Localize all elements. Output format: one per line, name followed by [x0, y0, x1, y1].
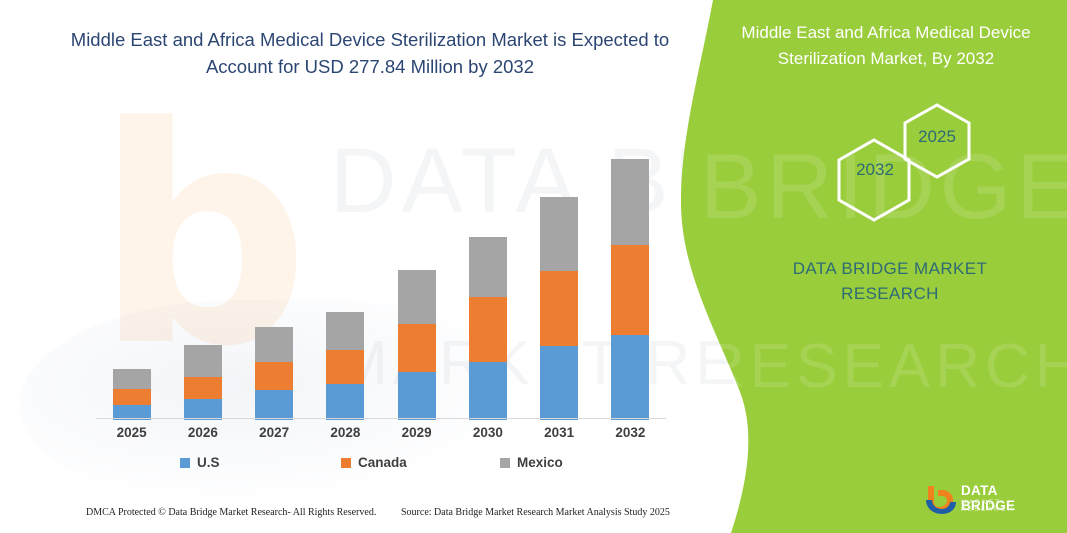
bar-segment-us — [326, 384, 364, 420]
bar-segment-mexico — [611, 159, 649, 245]
bar-segment-mexico — [255, 327, 293, 362]
x-axis-label: 2025 — [102, 425, 162, 440]
bar-segment-us — [255, 390, 293, 420]
bar-segment-canada — [184, 377, 222, 399]
bar-group — [184, 345, 222, 420]
x-axis-label: 2029 — [387, 425, 447, 440]
bar-segment-us — [469, 362, 507, 420]
bar-group — [469, 237, 507, 420]
bar-segment-canada — [540, 271, 578, 346]
x-axis-label: 2028 — [315, 425, 375, 440]
bar-segment-mexico — [540, 197, 578, 271]
x-axis-labels: 20252026202720282029203020312032 — [96, 425, 666, 449]
footer-source-text: Source: Data Bridge Market Research Mark… — [401, 507, 670, 518]
bar-group — [255, 327, 293, 420]
hexagon-2025-label: 2025 — [902, 127, 972, 147]
legend-swatch-us — [180, 458, 190, 468]
bar-group — [398, 270, 436, 420]
logo-mark-icon — [925, 484, 957, 514]
bar-segment-us — [540, 346, 578, 420]
chart-panel: b DATA BRIDGE MARKET RESEARCH Middle Eas… — [0, 0, 740, 533]
legend-swatch-mexico — [500, 458, 510, 468]
logo-name-text: DATA BRIDGE — [961, 483, 1055, 513]
bar-segment-us — [611, 335, 649, 420]
legend-label-mexico: Mexico — [517, 455, 563, 470]
x-axis-label: 2027 — [244, 425, 304, 440]
green-watermark-line1: BRIDGE — [700, 126, 1067, 248]
x-axis-label: 2031 — [529, 425, 589, 440]
footer: DMCA Protected © Data Bridge Market Rese… — [0, 505, 700, 527]
bar-group — [113, 369, 151, 420]
x-axis-label: 2026 — [173, 425, 233, 440]
green-watermark-line2: RESEARCH — [700, 336, 1067, 398]
logo-tagline-text: MARKET RESEARCH — [961, 499, 1055, 513]
bar-segment-mexico — [184, 345, 222, 377]
bar-segment-canada — [398, 324, 436, 372]
legend-label-us: U.S — [197, 455, 220, 470]
bar-segment-canada — [469, 297, 507, 362]
chart-title: Middle East and Africa Medical Device St… — [60, 26, 680, 80]
bar-segment-canada — [255, 362, 293, 390]
footer-dmca-text: DMCA Protected © Data Bridge Market Rese… — [86, 507, 376, 518]
brand-name-line2: RESEARCH — [760, 284, 1020, 304]
bar-segment-mexico — [469, 237, 507, 297]
hexagon-2025 — [905, 105, 969, 177]
legend-label-canada: Canada — [358, 455, 407, 470]
legend-item-mexico[interactable]: Mexico — [500, 455, 563, 470]
bar-segment-us — [184, 399, 222, 420]
bar-group — [540, 197, 578, 420]
bar-segment-canada — [113, 389, 151, 405]
green-panel-title: Middle East and Africa Medical Device St… — [716, 20, 1056, 72]
bar-segment-mexico — [113, 369, 151, 389]
legend-swatch-canada — [341, 458, 351, 468]
bar-segment-us — [398, 372, 436, 420]
bar-segment-mexico — [326, 312, 364, 350]
legend-item-canada[interactable]: Canada — [341, 455, 407, 470]
x-axis-label: 2030 — [458, 425, 518, 440]
bar-segment-canada — [326, 350, 364, 384]
legend-item-us[interactable]: U.S — [180, 455, 220, 470]
hexagon-2032-label: 2032 — [840, 160, 910, 180]
bar-segment-canada — [611, 245, 649, 335]
hexagon-2032 — [839, 140, 909, 220]
chart-legend: U.SCanadaMexico — [96, 455, 666, 477]
data-bridge-logo: DATA BRIDGE MARKET RESEARCH — [925, 482, 1055, 518]
brand-name-line1: DATA BRIDGE MARKET — [760, 259, 1020, 279]
stacked-bar-plot — [96, 140, 666, 420]
x-axis-label: 2032 — [600, 425, 660, 440]
bar-segment-mexico — [398, 270, 436, 324]
bar-group — [326, 312, 364, 420]
bar-group — [611, 159, 649, 420]
x-axis-line — [96, 418, 666, 419]
